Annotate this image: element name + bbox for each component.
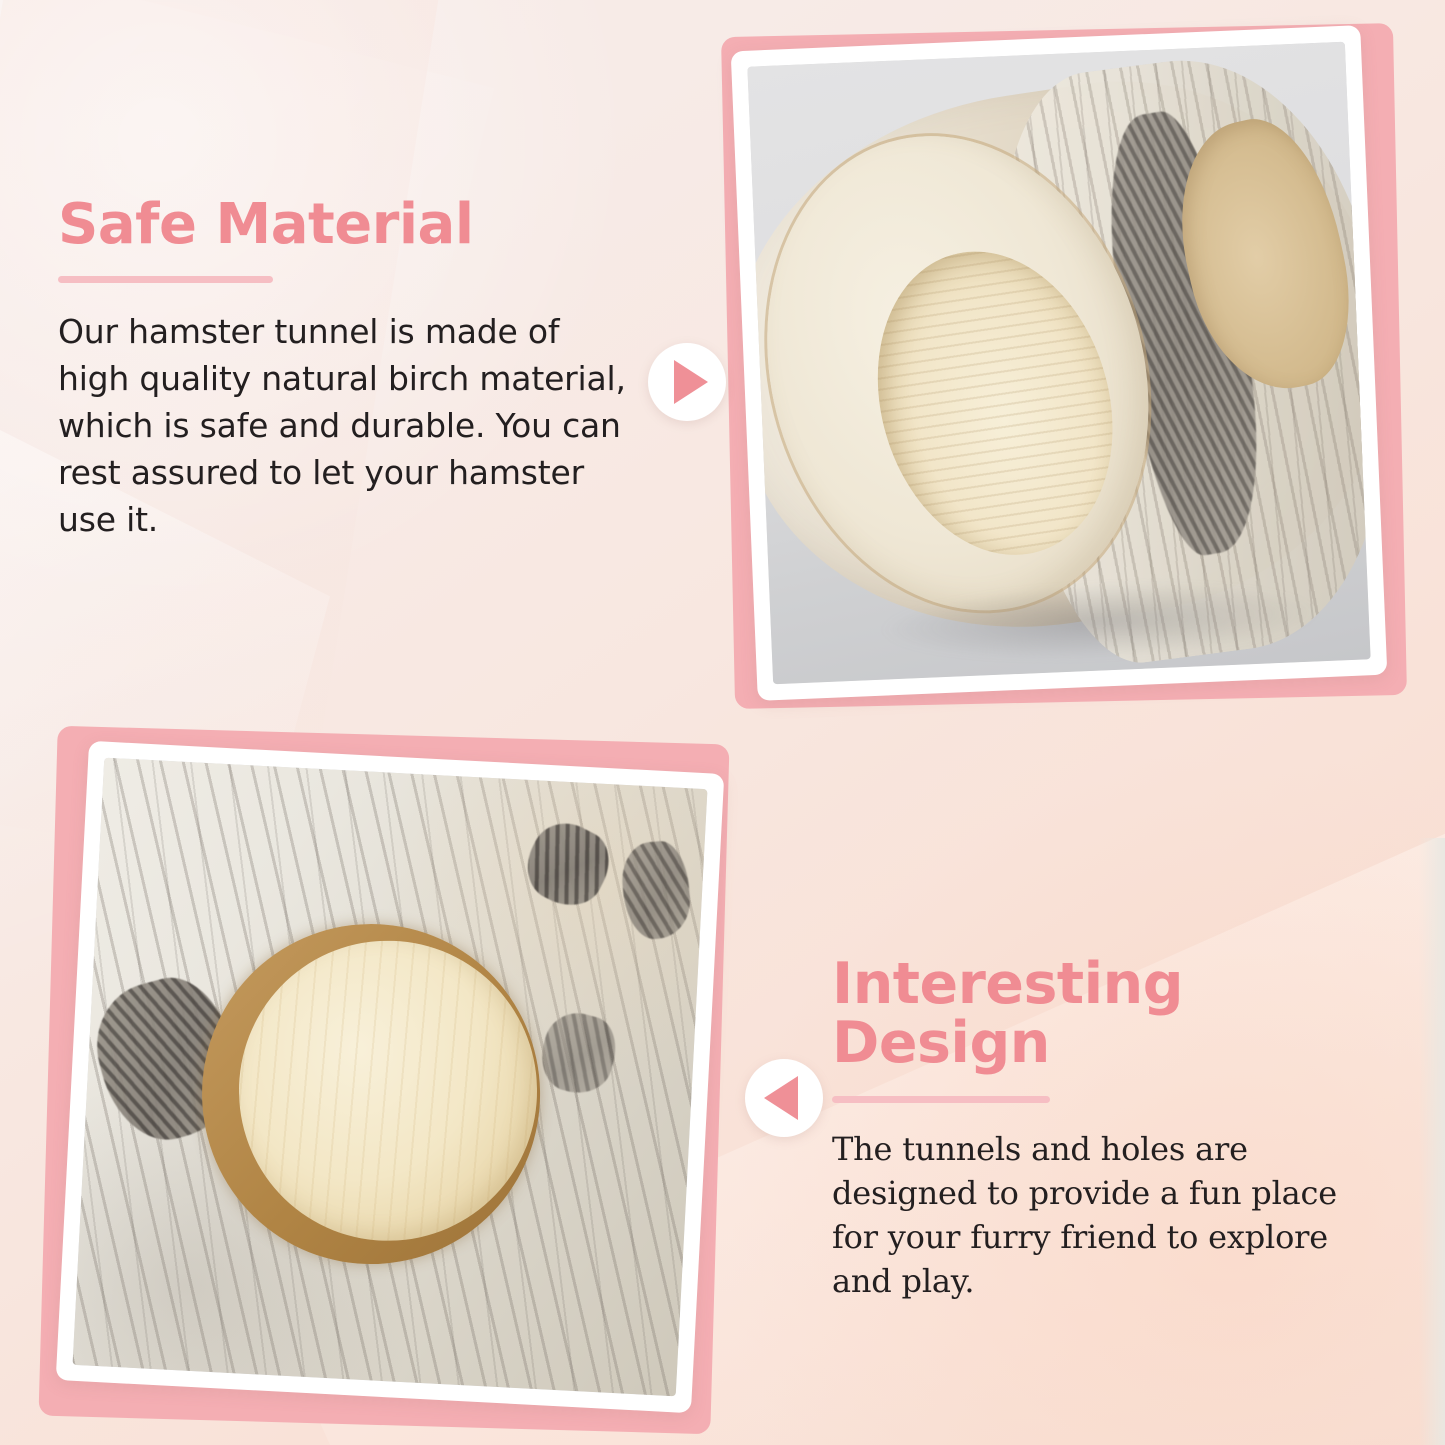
triangle-right-icon[interactable] — [648, 343, 726, 421]
photo-birch-bark-hole — [73, 758, 708, 1397]
triangle-left-icon[interactable] — [745, 1059, 823, 1137]
feature-body-interesting-design: The tunnels and holes are designed to pr… — [832, 1127, 1392, 1304]
photo-card-birch-tunnel — [728, 30, 1400, 702]
triangle-left-glyph — [764, 1076, 798, 1120]
feature-title-safe-material: Safe Material — [58, 196, 638, 254]
bark-hole-interior — [236, 938, 539, 1243]
title-underline-rule — [58, 276, 273, 283]
photo-card-birch-hole — [48, 735, 720, 1425]
triangle-right-glyph — [674, 360, 708, 404]
background-right-edge-strip — [1419, 838, 1445, 1445]
product-feature-infographic: Safe Material Our hamster tunnel is made… — [0, 0, 1445, 1445]
feature-title-interesting-design: Interesting Design — [832, 955, 1392, 1074]
feature-body-safe-material: Our hamster tunnel is made of high quali… — [58, 309, 638, 543]
feature-block-interesting-design: Interesting Design The tunnels and holes… — [832, 955, 1392, 1303]
photo-frame-white — [56, 741, 725, 1413]
photo-frame-white — [731, 25, 1388, 701]
photo-birch-tunnel-log — [747, 42, 1370, 684]
title-underline-rule — [832, 1096, 1050, 1103]
feature-block-safe-material: Safe Material Our hamster tunnel is made… — [58, 196, 638, 544]
